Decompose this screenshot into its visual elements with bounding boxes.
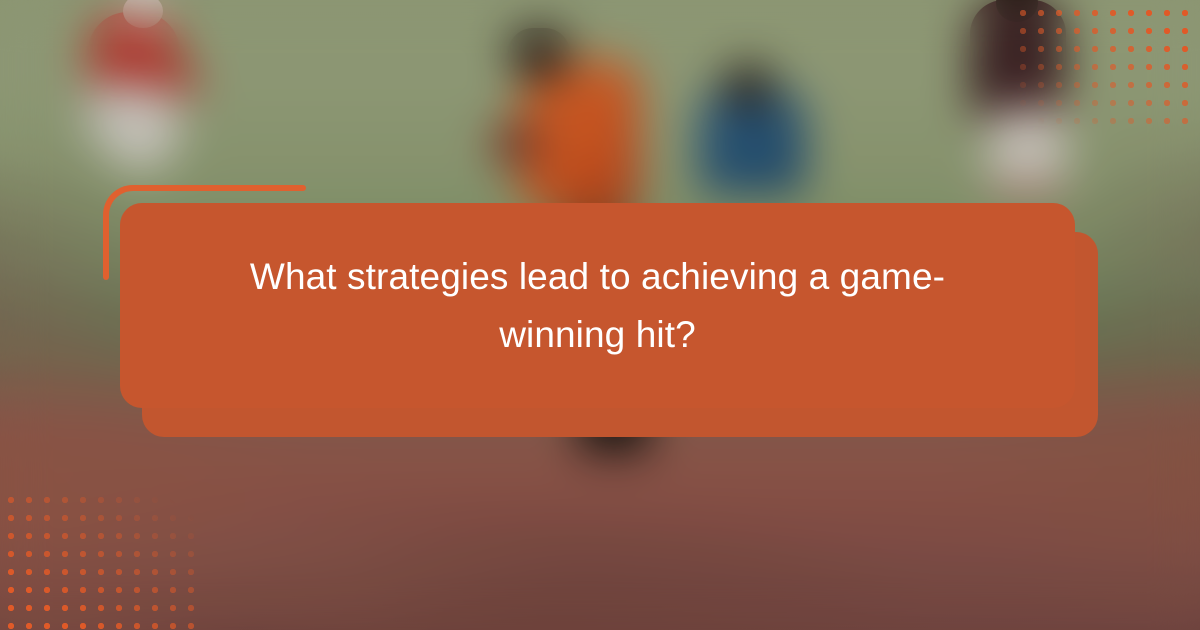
social-card-canvas: What strategies lead to achieving a game… [0,0,1200,630]
question-card: What strategies lead to achieving a game… [120,203,1075,408]
card-title: What strategies lead to achieving a game… [120,248,1075,364]
